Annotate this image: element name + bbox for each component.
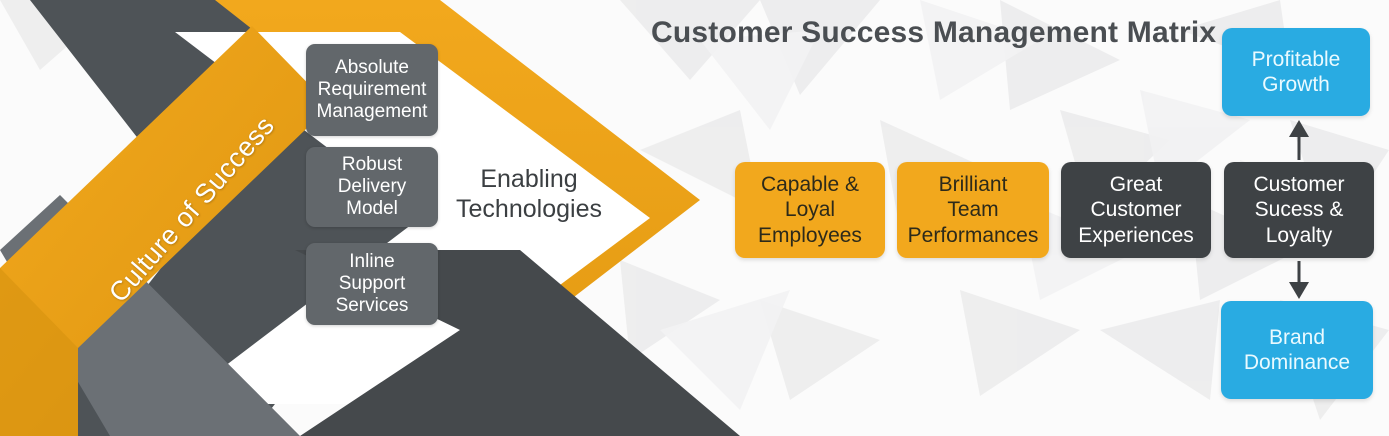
chain-box-label: Customer Sucess & Loyalty [1253, 172, 1344, 248]
outcome-box-brand-dominance[interactable]: Brand Dominance [1221, 301, 1373, 399]
pillar-label: Robust Delivery Model [338, 154, 407, 221]
diagram-canvas: Culture of Success Absolute Requirement … [0, 0, 1389, 436]
chain-box-great-customer-experiences[interactable]: Great Customer Experiences [1061, 162, 1211, 258]
chain-box-brilliant-team-performances[interactable]: Brilliant Team Performances [897, 162, 1049, 258]
pillar-label: Inline Support Services [336, 251, 409, 318]
arrow-down-icon [1287, 261, 1311, 299]
outcome-box-profitable-growth[interactable]: Profitable Growth [1222, 28, 1370, 116]
pillar-box-robust-delivery-model[interactable]: Robust Delivery Model [306, 147, 438, 227]
pillar-box-inline-support-services[interactable]: Inline Support Services [306, 243, 438, 325]
pillar-box-absolute-requirement-management[interactable]: Absolute Requirement Management [306, 44, 438, 136]
chain-box-capable-loyal-employees[interactable]: Capable & Loyal Employees [735, 162, 885, 258]
page-title: Customer Success Management Matrix [651, 16, 1216, 50]
chain-box-label: Capable & Loyal Employees [758, 172, 862, 248]
chain-box-label: Great Customer Experiences [1078, 172, 1194, 248]
outcome-box-label: Brand Dominance [1244, 325, 1350, 375]
arrow-up-icon [1287, 120, 1311, 160]
enabling-technologies-label: Enabling Technologies [448, 164, 610, 224]
chain-box-customer-sucess-loyalty[interactable]: Customer Sucess & Loyalty [1224, 162, 1374, 258]
outcome-box-label: Profitable Growth [1252, 47, 1341, 97]
chain-box-label: Brilliant Team Performances [908, 172, 1039, 248]
pillar-label: Absolute Requirement Management [317, 57, 428, 124]
